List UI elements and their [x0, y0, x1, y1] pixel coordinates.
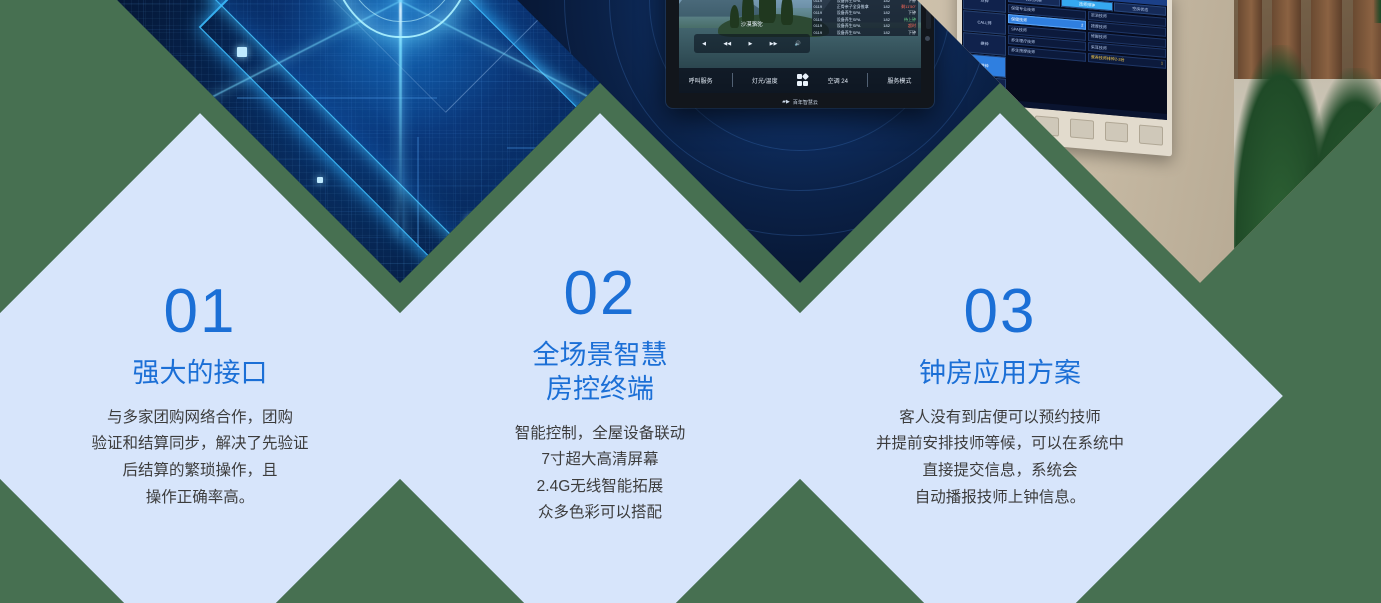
ac-button: 空调 24: [828, 76, 848, 85]
play-icon: ▶: [748, 41, 752, 47]
tablet-screen: 22:35 SPA6房 24℃ 11/24 房人 项目 技师: [679, 0, 921, 93]
volume-icon: ◀: [702, 41, 706, 47]
wall-panel-screen: ⌂ 客房控制 点钟 CALL师 换钟 接钟 点钟: [962, 0, 1167, 120]
side-button: 换钟: [963, 32, 1006, 56]
tablet-bottom-bar: 呼叫服务 灯光/温度 空调 24 服务模式: [679, 68, 921, 93]
table-row: 0119 设备养生SPA 182 下钟: [814, 10, 916, 16]
media-controls: ◀ ◀◀ ▶ ▶▶ 🔊: [694, 34, 810, 53]
speaker-icon: 🔊: [795, 41, 801, 47]
card-title: 全场景智慧 房控终端: [533, 339, 668, 407]
card-number: 02: [564, 263, 637, 325]
light-temp-button: 灯光/温度: [752, 76, 778, 85]
table-row: 0119 设备养生SPA 182 待上钟: [814, 16, 916, 22]
table-row: 0119 设备养生SPA 182 下钟: [814, 29, 916, 35]
service-status-table: 房人 项目 技师 状态 0119 设备养生SPA 182 下钟: [812, 0, 918, 36]
hw-button: [1104, 121, 1128, 143]
card-number: 01: [164, 281, 237, 343]
side-button: CALL师: [963, 11, 1006, 35]
brand-logo-icon: ▰▶: [782, 99, 790, 105]
apps-grid-icon: [797, 74, 809, 86]
table-row: 0119 正骨亲子全身推拿 182 剩11'50": [814, 3, 916, 9]
prev-icon: ◀◀: [723, 41, 731, 47]
table-row: 0119 设备养生SPA 182 超时: [814, 22, 916, 28]
hw-button: [1139, 124, 1163, 146]
hw-button: [1035, 115, 1059, 137]
tablet-footer-brand: ▰▶ 百年智慧云: [666, 99, 934, 106]
card-title: 强大的接口: [133, 357, 268, 391]
feature-diamond-board: CS(290) 22:35: [0, 0, 1381, 603]
card-title: 钟房应用方案: [919, 357, 1081, 391]
service-mode-button: 服务模式: [887, 76, 911, 85]
hw-button: [1070, 118, 1094, 140]
call-service-button: 呼叫服务: [689, 76, 713, 85]
corridor-background: [1223, 0, 1381, 283]
tablet-device: CS(290) 22:35: [666, 0, 934, 108]
media-title: 沙漠骆驼: [694, 20, 810, 28]
tablet-camera-icon: [925, 36, 930, 41]
card-body: 智能控制，全屋设备联动 7寸超大高清屏幕 2.4G无线智能拓展 众多色彩可以搭配: [515, 421, 686, 528]
next-icon: ▶▶: [770, 41, 778, 47]
card-number: 03: [964, 281, 1037, 343]
card-body: 客人没有到店便可以预约技师 并提前安排技师等候，可以在系统中 直接提交信息，系统…: [876, 405, 1124, 512]
card-body: 与多家团购网络合作，团购 验证和结算同步，解决了先验证 后结算的繁琐操作，且 操…: [91, 405, 308, 512]
